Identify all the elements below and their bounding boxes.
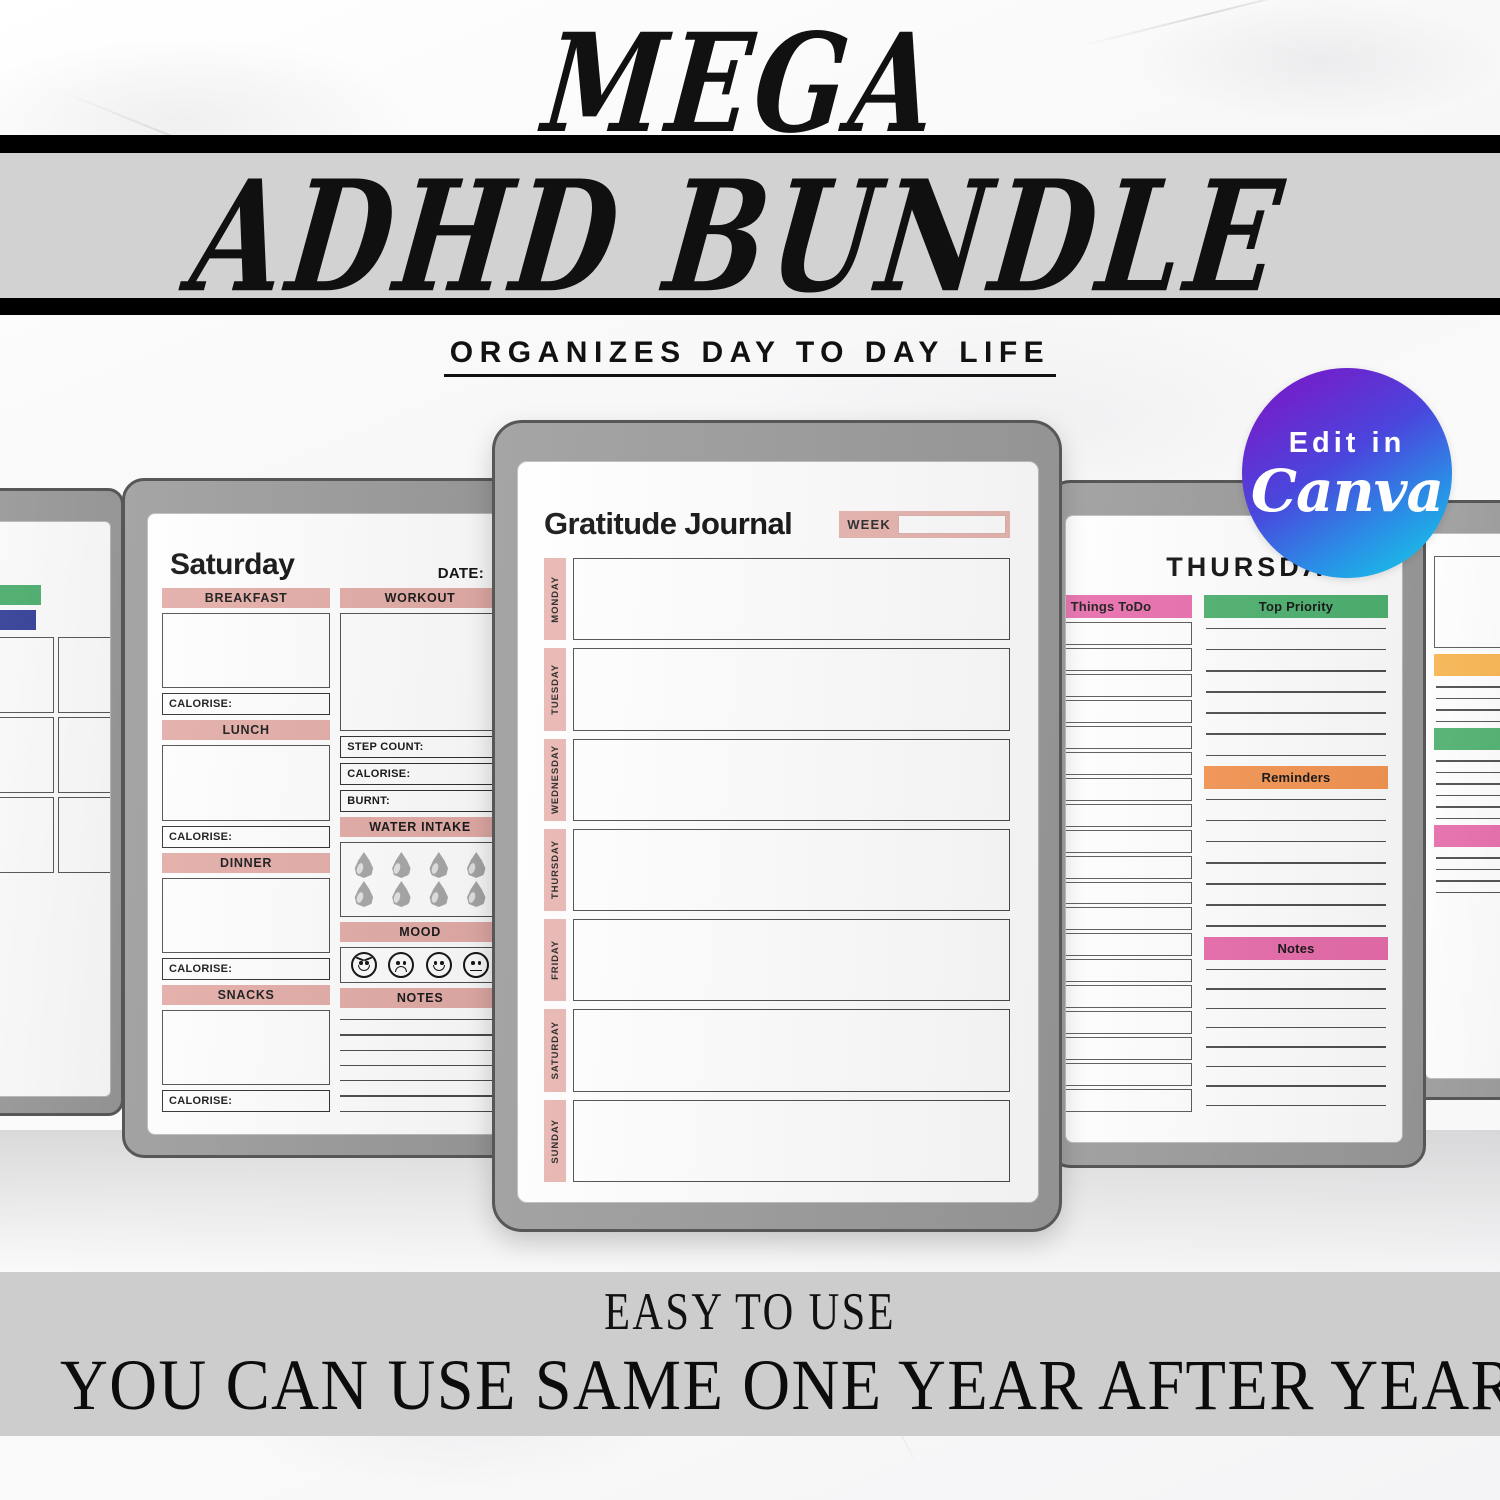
reminders-heading: Reminders [1204,766,1388,789]
edit-in-canva-badge[interactable]: Edit in Canva [1242,368,1452,578]
tagline: ORGANIZES DAY TO DAY LIFE [0,336,1500,370]
sad-face-icon[interactable] [388,952,414,978]
water-drop-icon[interactable] [466,852,486,878]
extra-lines-group-1[interactable] [1434,682,1500,722]
dinner-heading: DINNER [162,853,330,873]
screen-extra-planner [1425,533,1500,1079]
water-drop-icon[interactable] [429,881,449,907]
workout-input[interactable] [340,613,500,731]
tablet-gratitude-journal[interactable]: Gratitude Journal WEEK MONDAY TUESDAY [492,420,1062,1232]
day-label: THURSDAY [550,840,561,899]
page-title-mega: MEGA [0,10,1500,160]
saturday-page-title: Saturday [170,548,294,582]
step-count-field[interactable]: STEP COUNT: [340,736,500,758]
extra-lines-group-3[interactable] [1434,853,1500,893]
day-tab-thursday: THURSDAY [544,829,566,911]
notes-lines[interactable] [1204,960,1388,1115]
gratitude-entry-monday[interactable] [573,558,1010,640]
tagline-text: ORGANIZES DAY TO DAY LIFE [444,336,1056,377]
page-title-bundle: ADHD BUNDLE [0,146,1500,327]
monthly-planner-chip-row-2: Wednesday [0,610,110,630]
week-label: WEEK [847,517,891,532]
monthly-planner-chip-row-1: Year: [0,585,110,605]
todo-item[interactable] [1065,700,1192,723]
screen-thursday-planner: THURSDAY Things ToDo [1065,515,1403,1143]
todo-item[interactable] [1065,1063,1192,1086]
meals-column: BREAKFAST CALORISE: LUNCH CALORISE: DINN… [162,588,330,1112]
water-drop-icon[interactable] [391,852,411,878]
neutral-face-icon[interactable] [463,952,489,978]
calendar-cell[interactable] [58,717,110,793]
thursday-sections-column: Top Priority Reminders Notes [1204,595,1388,1115]
date-field-label[interactable]: DATE: [438,565,484,582]
screen-monthly-planner: LY PLANNER Year: Wednesday [0,521,111,1097]
dinner-input[interactable] [162,878,330,953]
day-label: TUESDAY [550,664,561,715]
happy-face-icon[interactable] [426,952,452,978]
day-tab-wednesday: WEDNESDAY [544,739,566,821]
gratitude-entry-friday[interactable] [573,919,1010,1001]
monthly-planner-grid [0,637,110,873]
gratitude-entry-saturday[interactable] [573,1009,1010,1091]
notes-lines[interactable] [340,1013,500,1112]
footer-line-1: EASY TO USE [150,1282,1350,1342]
water-drop-icon[interactable] [429,852,449,878]
tablet-monthly-planner[interactable]: LY PLANNER Year: Wednesday [0,488,124,1116]
canva-edit-label: Edit in [1289,427,1406,460]
breakfast-heading: BREAKFAST [162,588,330,608]
canva-brand-wordmark: Canva [1251,462,1443,520]
todo-item[interactable] [1065,907,1192,930]
todo-item[interactable] [1065,674,1192,697]
lunch-calorie-field[interactable]: CALORISE: [162,826,330,848]
calorie-field[interactable]: CALORISE: [340,763,500,785]
chip-blue[interactable] [0,610,36,630]
day-label: SUNDAY [550,1119,561,1164]
calendar-cell[interactable] [58,637,110,713]
gratitude-row-sunday: SUNDAY [544,1100,1010,1182]
gratitude-row-tuesday: TUESDAY [544,648,1010,730]
todo-item[interactable] [1065,985,1192,1008]
gratitude-entry-sunday[interactable] [573,1100,1010,1182]
gratitude-day-rows: MONDAY TUESDAY WEDNESDAY [544,558,1010,1182]
week-field[interactable]: WEEK [839,511,1010,538]
day-label: FRIDAY [550,940,561,980]
day-tab-monday: MONDAY [544,558,566,640]
top-priority-heading: Top Priority [1204,595,1388,618]
extra-bar-pink [1434,825,1500,847]
gratitude-row-saturday: SATURDAY [544,1009,1010,1091]
todo-item[interactable] [1065,726,1192,749]
extra-bar-green [1434,728,1500,750]
water-drop-icon[interactable] [391,881,411,907]
gratitude-journal-title: Gratitude Journal [544,506,792,542]
todo-item[interactable] [1065,804,1192,827]
water-intake-heading: WATER INTAKE [340,817,500,837]
todo-item[interactable] [1065,959,1192,982]
day-label: WEDNESDAY [550,745,561,814]
water-drop-icon[interactable] [466,881,486,907]
screen-daily-meal-fitness: Saturday DATE: BREAKFAST CALORISE: LUNCH… [147,513,501,1135]
gratitude-entry-thursday[interactable] [573,829,1010,911]
snacks-input[interactable] [162,1010,330,1085]
gratitude-entry-tuesday[interactable] [573,648,1010,730]
water-drop-icon[interactable] [354,881,374,907]
day-tab-tuesday: TUESDAY [544,648,566,730]
chip-year[interactable]: Year: [0,585,41,605]
footer-banner: EASY TO USE YOU CAN USE SAME ONE YEAR AF… [0,1272,1500,1436]
calendar-cell[interactable] [0,797,54,873]
todo-item[interactable] [1065,1037,1192,1060]
breakfast-calorie-field[interactable]: CALORISE: [162,693,330,715]
todo-item[interactable] [1065,778,1192,801]
tablet-thursday-planner[interactable]: THURSDAY Things ToDo [1048,480,1426,1168]
todo-item[interactable] [1065,648,1192,671]
todo-item[interactable] [1065,830,1192,853]
gratitude-row-friday: FRIDAY [544,919,1010,1001]
gratitude-row-wednesday: WEDNESDAY [544,739,1010,821]
todo-item[interactable] [1065,933,1192,956]
todo-item[interactable] [1065,1089,1192,1112]
tablet-daily-meal-fitness[interactable]: Saturday DATE: BREAKFAST CALORISE: LUNCH… [122,478,520,1158]
mood-heading: MOOD [340,922,500,942]
workout-heading: WORKOUT [340,588,500,608]
day-tab-saturday: SATURDAY [544,1009,566,1091]
calendar-cell[interactable] [0,717,54,793]
dinner-calorie-field[interactable]: CALORISE: [162,958,330,980]
gratitude-row-monday: MONDAY [544,558,1010,640]
mood-tracker [340,947,500,983]
snacks-heading: SNACKS [162,985,330,1005]
monthly-planner-title: LY PLANNER [0,548,110,576]
extra-bar-orange [1434,654,1500,676]
snacks-calorie-field[interactable]: CALORISE: [162,1090,330,1112]
reminders-lines[interactable] [1204,789,1388,937]
top-priority-lines[interactable] [1204,618,1388,766]
calendar-cell[interactable] [0,637,54,713]
gratitude-entry-wednesday[interactable] [573,739,1010,821]
todo-item[interactable] [1065,1011,1192,1034]
todo-item[interactable] [1065,882,1192,905]
screen-gratitude-journal: Gratitude Journal WEEK MONDAY TUESDAY [517,461,1039,1203]
day-label: SATURDAY [550,1021,561,1079]
water-drop-icon[interactable] [354,852,374,878]
things-todo-list [1065,618,1192,1115]
gratitude-row-thursday: THURSDAY [544,829,1010,911]
footer-line-2: YOU CAN USE SAME ONE YEAR AFTER YEAR [60,1344,1440,1427]
extra-lines-group-2[interactable] [1434,756,1500,819]
notes-heading: NOTES [340,988,500,1008]
things-todo-column: Things ToDo [1065,595,1192,1115]
lunch-heading: LUNCH [162,720,330,740]
week-input[interactable] [898,515,1006,534]
things-todo-heading: Things ToDo [1065,595,1192,618]
day-tab-friday: FRIDAY [544,919,566,1001]
angry-face-icon[interactable] [351,952,377,978]
calendar-cell[interactable] [58,797,110,873]
lunch-input[interactable] [162,745,330,820]
notes-heading: Notes [1204,937,1388,960]
todo-item[interactable] [1065,856,1192,879]
water-intake-tracker [340,842,500,917]
breakfast-input[interactable] [162,613,330,688]
extra-input-block[interactable] [1434,556,1500,648]
todo-item[interactable] [1065,622,1192,645]
todo-item[interactable] [1065,752,1192,775]
day-tab-sunday: SUNDAY [544,1100,566,1182]
burnt-field[interactable]: BURNT: [340,790,500,812]
day-label: MONDAY [550,576,561,623]
fitness-column: WORKOUT STEP COUNT: CALORISE: BURNT: WAT… [340,588,500,1112]
